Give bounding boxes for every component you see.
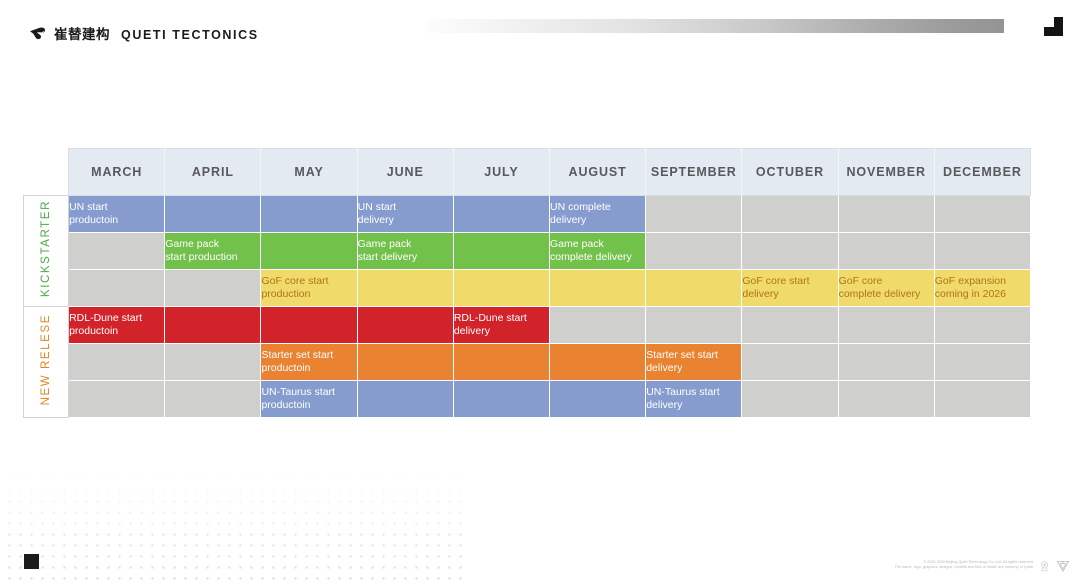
bar-cell[interactable] <box>69 270 165 307</box>
bar-cell[interactable] <box>69 381 165 418</box>
bar-label: Game pack start delivery <box>358 238 453 265</box>
month-header-august: AUGUST <box>550 149 646 196</box>
bar-cell[interactable] <box>357 270 453 307</box>
bar-cell[interactable] <box>742 381 838 418</box>
month-header-octuber: OCTUBER <box>742 149 838 196</box>
bar-cell[interactable] <box>357 307 453 344</box>
bar-cell[interactable] <box>742 307 838 344</box>
bar-cell[interactable]: Game pack complete delivery <box>550 233 646 270</box>
bar-cell[interactable]: Starter set start productoin <box>261 344 357 381</box>
bar-cell[interactable] <box>69 344 165 381</box>
bar-cell[interactable] <box>357 344 453 381</box>
bar-cell[interactable] <box>742 344 838 381</box>
table-row: UN-Taurus start productoin UN-Taurus sta… <box>24 381 1031 418</box>
bar-cell[interactable] <box>453 233 549 270</box>
bar-cell[interactable]: RDL-Dune start delivery <box>453 307 549 344</box>
bar-cell[interactable]: RDL-Dune start productoin <box>69 307 165 344</box>
corner-bracket-horizontal <box>1044 27 1063 36</box>
bar-cell[interactable] <box>550 307 646 344</box>
group-label-kickstarter-text: KICKSTARTER <box>40 200 52 297</box>
group-label-new-relese-text: NEW RELESE <box>40 314 52 405</box>
table-row: Starter set start productoin Starter set… <box>24 344 1031 381</box>
bar-cell[interactable] <box>69 233 165 270</box>
roadmap-table-body: KICKSTARTER UN start productoin UN start… <box>24 196 1031 418</box>
bar-cell[interactable]: UN start delivery <box>357 196 453 233</box>
bar-label: UN-Taurus start productoin <box>261 386 356 413</box>
bar-cell[interactable]: GoF core start production <box>261 270 357 307</box>
bar-label: Game pack complete delivery <box>550 238 645 265</box>
month-header-april: APRIL <box>165 149 261 196</box>
bar-cell[interactable] <box>550 344 646 381</box>
bar-cell[interactable]: Game pack start production <box>165 233 261 270</box>
bar-cell[interactable] <box>934 344 1030 381</box>
bar-label: RDL-Dune start productoin <box>69 312 164 339</box>
bar-cell[interactable] <box>742 233 838 270</box>
bar-cell[interactable]: Starter set start delivery <box>646 344 742 381</box>
bar-cell[interactable] <box>550 270 646 307</box>
bar-cell[interactable] <box>742 196 838 233</box>
bar-cell[interactable]: UN-Taurus start delivery <box>646 381 742 418</box>
bar-cell[interactable] <box>646 196 742 233</box>
bar-cell[interactable] <box>453 196 549 233</box>
bar-label: UN start delivery <box>358 201 453 228</box>
bar-cell[interactable] <box>165 196 261 233</box>
brand-name-en: QUETI TECTONICS <box>121 29 259 42</box>
bar-cell[interactable] <box>838 307 934 344</box>
bar-cell[interactable] <box>357 381 453 418</box>
bar-cell[interactable]: GoF core start delivery <box>742 270 838 307</box>
halftone-dot-field <box>0 470 470 585</box>
bar-cell[interactable] <box>550 381 646 418</box>
month-header-december: DECEMBER <box>934 149 1030 196</box>
bar-cell[interactable] <box>261 196 357 233</box>
bar-cell[interactable] <box>646 233 742 270</box>
bar-cell[interactable] <box>453 344 549 381</box>
month-header-row: MARCH APRIL MAY JUNE JULY AUGUST SEPTEMB… <box>24 149 1031 196</box>
bar-label: UN complete delivery <box>550 201 645 228</box>
roadmap-timeline: MARCH APRIL MAY JUNE JULY AUGUST SEPTEMB… <box>23 148 1031 418</box>
bar-cell[interactable] <box>453 381 549 418</box>
bar-cell[interactable]: Game pack start delivery <box>357 233 453 270</box>
bar-cell[interactable]: UN-Taurus start productoin <box>261 381 357 418</box>
corner-bracket-mark-icon <box>1044 17 1063 36</box>
bar-cell[interactable] <box>646 307 742 344</box>
table-row: NEW RELESE RDL-Dune start productoin RDL… <box>24 307 1031 344</box>
bar-cell[interactable]: GoF core complete delivery <box>838 270 934 307</box>
bar-label: GoF core start production <box>261 275 356 302</box>
month-header-june: JUNE <box>357 149 453 196</box>
roadmap-table-head: MARCH APRIL MAY JUNE JULY AUGUST SEPTEMB… <box>24 149 1031 196</box>
bar-cell[interactable] <box>838 344 934 381</box>
bar-label: GoF expansion coming in 2026 <box>935 275 1030 302</box>
footer-legal: © 2025 2025 Beijing Queti Technology Co.… <box>895 560 1034 571</box>
bar-label: Game pack start production <box>165 238 260 265</box>
footer-marks <box>1038 559 1070 573</box>
table-row: KICKSTARTER UN start productoin UN start… <box>24 196 1031 233</box>
top-gradient-bar <box>426 19 1004 33</box>
solid-square-mark-icon <box>24 554 39 569</box>
group-label-kickstarter: KICKSTARTER <box>24 196 69 307</box>
bar-cell[interactable] <box>453 270 549 307</box>
brand-name-cn: 崔替建构 <box>54 28 110 42</box>
certification-seal-icon <box>1038 560 1051 573</box>
table-row: GoF core start production GoF core start… <box>24 270 1031 307</box>
brand-lockup: 崔替建构 QUETI TECTONICS <box>29 24 259 46</box>
bar-cell[interactable]: GoF expansion coming in 2026 <box>934 270 1030 307</box>
bar-cell[interactable] <box>261 307 357 344</box>
bar-cell[interactable] <box>165 344 261 381</box>
bar-cell[interactable]: UN complete delivery <box>550 196 646 233</box>
bar-cell[interactable] <box>165 381 261 418</box>
bar-cell[interactable] <box>165 270 261 307</box>
bar-cell[interactable] <box>934 233 1030 270</box>
bar-label: UN-Taurus start delivery <box>646 386 741 413</box>
month-header-july: JULY <box>453 149 549 196</box>
queti-triangle-mark-icon <box>1056 559 1070 573</box>
month-header-september: SEPTEMBER <box>646 149 742 196</box>
bar-cell[interactable]: UN start productoin <box>69 196 165 233</box>
bar-label: UN start productoin <box>69 201 164 228</box>
bar-label: GoF core complete delivery <box>839 275 934 302</box>
header-corner-spacer <box>24 149 69 196</box>
month-header-march: MARCH <box>69 149 165 196</box>
bar-label: RDL-Dune start delivery <box>454 312 549 339</box>
bar-label: Starter set start productoin <box>261 349 356 376</box>
bar-cell[interactable] <box>646 270 742 307</box>
queti-swoosh-logo-icon <box>29 26 46 43</box>
group-label-new-relese: NEW RELESE <box>24 307 69 418</box>
month-header-november: NOVEMBER <box>838 149 934 196</box>
bar-label: Starter set start delivery <box>646 349 741 376</box>
bar-cell[interactable] <box>934 381 1030 418</box>
bar-cell[interactable] <box>838 196 934 233</box>
table-row: Game pack start production Game pack sta… <box>24 233 1031 270</box>
bar-cell[interactable] <box>934 307 1030 344</box>
bar-label: GoF core start delivery <box>742 275 837 302</box>
bar-cell[interactable] <box>261 233 357 270</box>
footer-rights-line: The name, logo, graphics, designs, model… <box>895 565 1034 571</box>
month-header-may: MAY <box>261 149 357 196</box>
bar-cell[interactable] <box>838 381 934 418</box>
roadmap-table: MARCH APRIL MAY JUNE JULY AUGUST SEPTEMB… <box>23 148 1031 418</box>
bar-cell[interactable] <box>934 196 1030 233</box>
bar-cell[interactable] <box>838 233 934 270</box>
bar-cell[interactable] <box>165 307 261 344</box>
